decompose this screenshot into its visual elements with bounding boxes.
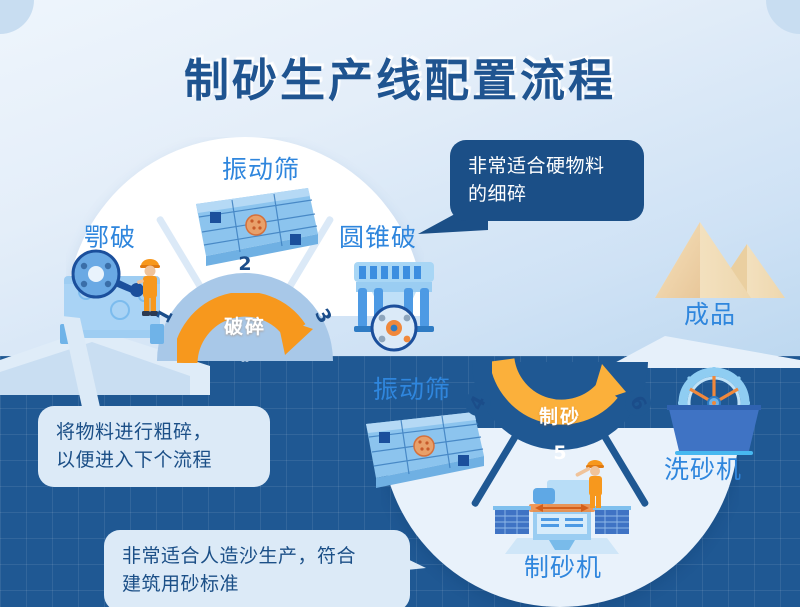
callout-sand-line-2: 建筑用砂标准: [122, 571, 392, 599]
vibrating-screen-icon-2: [362, 408, 492, 498]
label-cone-crusher: 圆锥破: [339, 218, 417, 254]
callout-jaw-crusher-note: 将物料进行粗碎， 以便进入下个流程: [38, 406, 270, 487]
callout-jaw-line-2: 以便进入下个流程: [56, 447, 252, 475]
callout-sand-line-1: 非常适合人造沙生产，符合: [122, 543, 392, 571]
sand-making-arc-label: 制砂: [500, 402, 620, 429]
label-vibrating-screen-top: 振动筛: [222, 150, 300, 186]
callout-jaw-line-1: 将物料进行粗碎，: [56, 419, 252, 447]
callout-cone-line-2: 的细碎: [468, 181, 626, 209]
sand-making-machine-icon: [487, 452, 637, 560]
callout-cone-line-1: 非常适合硬物料: [468, 153, 626, 181]
label-jaw-crusher: 鄂破: [84, 218, 136, 254]
step-number-5: 5: [547, 440, 573, 466]
label-vibrating-screen-bottom: 振动筛: [373, 370, 451, 406]
label-sand-washer: 洗砂机: [664, 450, 742, 486]
label-product: 成品: [684, 295, 736, 331]
crushing-arc-label: 破碎: [185, 312, 305, 339]
step-number-2: 2: [232, 251, 258, 277]
callout-sand-machine-note: 非常适合人造沙生产，符合 建筑用砂标准: [104, 530, 410, 607]
page-title: 制砂生产线配置流程: [0, 44, 800, 109]
sand-pile-icon: [655, 218, 785, 303]
cone-crusher-icon: [342, 256, 446, 354]
infographic-canvas: 制砂生产线配置流程 破碎: [0, 0, 800, 607]
callout-cone-crusher-note: 非常适合硬物料 的细碎: [450, 140, 644, 221]
callout-tail-jaw-crusher: [62, 316, 122, 416]
label-sand-making-machine: 制砂机: [524, 548, 602, 584]
